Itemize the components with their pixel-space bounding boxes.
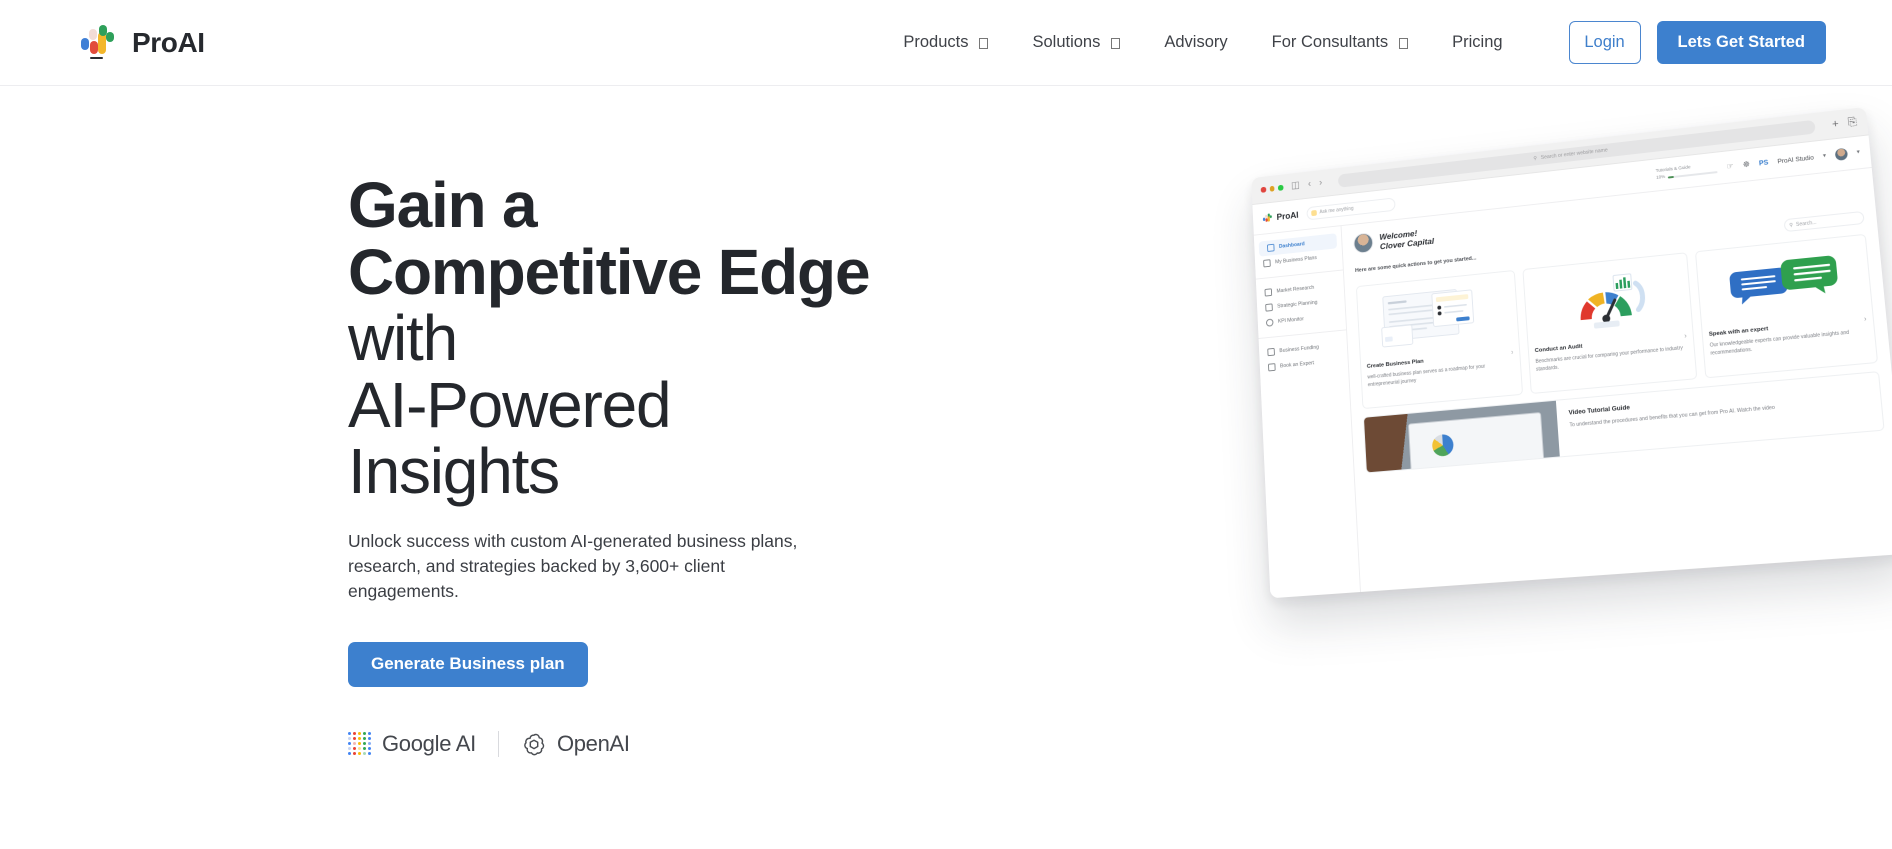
app-body: Dashboard My Business Plans Market Resea… <box>1254 168 1892 598</box>
partner-logos: Google AI OpenAI <box>348 731 988 757</box>
business-plan-illustration <box>1363 277 1513 357</box>
site-header: ProAI Products Solutions Advisory For Co… <box>0 0 1892 86</box>
chevron-right-icon[interactable]: › <box>1864 316 1867 323</box>
url-placeholder: Search or enter website name <box>1541 148 1608 161</box>
chevron-down-icon[interactable]: ▾ <box>1823 153 1827 159</box>
sidebar-item-label: Business Funding <box>1279 345 1319 355</box>
chevron-down-icon <box>1399 38 1408 49</box>
workspace-initials: PS <box>1759 159 1769 167</box>
login-button[interactable]: Login <box>1569 21 1641 64</box>
gauge-icon <box>1266 318 1274 326</box>
card-title: Conduct an Audit <box>1535 343 1583 353</box>
dashboard-icon <box>1267 244 1275 252</box>
chat-bubbles-illustration <box>1703 242 1866 325</box>
search-placeholder: Search... <box>1796 219 1817 227</box>
headline-line-4: AI-Powered <box>348 372 988 439</box>
search-icon: ⚲ <box>1533 156 1537 162</box>
app-content: Welcome! Clover Capital Here are some qu… <box>1342 168 1892 592</box>
header-actions: Login Lets Get Started <box>1569 21 1826 64</box>
quick-actions-text: Here are some quick actions to get you s… <box>1355 255 1477 273</box>
video-thumbnail <box>1364 401 1560 473</box>
search-input[interactable]: ⚲ Search... <box>1784 211 1865 232</box>
partner-label: OpenAI <box>557 731 630 757</box>
briefcase-icon <box>1263 259 1271 267</box>
chevron-right-icon[interactable]: › <box>1511 349 1514 356</box>
proai-logo-icon <box>1262 212 1273 225</box>
google-ai-icon <box>348 732 371 755</box>
hero-copy: Gain a Competitive Edge with AI-Powered … <box>348 172 988 757</box>
avatar[interactable] <box>1835 148 1848 161</box>
headline-line-1: Gain a <box>348 172 988 239</box>
nav-label: Advisory <box>1164 33 1227 52</box>
card-conduct-an-audit[interactable]: Conduct an Audit › Benchmarks are crucia… <box>1522 252 1697 394</box>
card-create-business-plan[interactable]: Create Business Plan › well-crafted busi… <box>1356 270 1523 409</box>
chrome-right-actions: + ⎘ <box>1832 116 1858 130</box>
proai-logo-icon <box>78 22 118 64</box>
nav-item-for-consultants[interactable]: For Consultants <box>1250 23 1430 63</box>
headline-line-5: Insights <box>348 438 988 505</box>
dashboard-mockup: ◫ ‹ › ⚲ Search or enter website name + ⎘ <box>1251 107 1892 598</box>
pie-chart-icon <box>1432 434 1454 457</box>
app-brand-name: ProAI <box>1276 210 1298 222</box>
people-icon[interactable]: ☸ <box>1742 161 1750 170</box>
headline-line-3: with <box>348 305 988 372</box>
calendar-icon <box>1268 363 1276 371</box>
chevron-down-icon[interactable]: ▾ <box>1856 149 1860 155</box>
chevron-right-icon[interactable]: › <box>1684 333 1687 340</box>
sidebar-item-label: Strategic Planning <box>1277 300 1317 310</box>
page-title: Gain a Competitive Edge with AI-Powered … <box>348 172 988 505</box>
sidebar-item-label: Dashboard <box>1279 241 1305 249</box>
app-brand[interactable]: ProAI <box>1262 209 1299 225</box>
window-controls[interactable] <box>1261 185 1283 193</box>
sidebar-item-label: KPI Monitor <box>1278 316 1304 324</box>
main-nav: Products Solutions Advisory For Consulta… <box>881 23 1524 63</box>
chevron-down-icon <box>1111 38 1120 49</box>
card-title: Create Business Plan <box>1367 358 1424 369</box>
nav-label: Pricing <box>1452 33 1502 52</box>
ask-placeholder: Ask me anything <box>1319 206 1353 215</box>
card-speak-with-an-expert[interactable]: Speak with an expert › Our knowledgeable… <box>1695 234 1878 379</box>
plus-icon[interactable]: + <box>1832 119 1840 131</box>
nav-item-solutions[interactable]: Solutions <box>1010 23 1142 63</box>
nav-item-advisory[interactable]: Advisory <box>1142 23 1249 63</box>
chevron-right-icon[interactable]: › <box>1319 178 1323 188</box>
nav-label: Products <box>903 33 968 52</box>
duplicate-icon[interactable]: ⎘ <box>1847 116 1857 128</box>
headline-line-2: Competitive Edge <box>348 239 988 306</box>
avatar <box>1353 232 1374 254</box>
nav-label: Solutions <box>1032 33 1100 52</box>
search-icon: ⚲ <box>1789 222 1793 228</box>
brand-logo[interactable]: ProAI <box>78 22 205 64</box>
tutorials-progress[interactable]: Tutorials & Guide 10% <box>1655 161 1718 181</box>
openai-icon <box>522 732 546 756</box>
audit-gauge-illustration <box>1530 260 1686 342</box>
brand-name: ProAI <box>132 27 205 59</box>
partner-google-ai: Google AI <box>348 731 498 757</box>
hero-product-screenshot: ◫ ‹ › ⚲ Search or enter website name + ⎘ <box>1245 141 1892 611</box>
funding-icon <box>1267 348 1275 356</box>
partner-openai: OpenAI <box>498 731 630 757</box>
sidebar-item-label: Market Research <box>1276 285 1314 295</box>
generate-business-plan-button[interactable]: Generate Business plan <box>348 642 588 687</box>
get-started-button[interactable]: Lets Get Started <box>1657 21 1826 64</box>
workspace-name[interactable]: ProAI Studio <box>1777 154 1814 165</box>
hero-subtitle: Unlock success with custom AI-generated … <box>348 529 818 605</box>
chart-icon <box>1265 288 1273 296</box>
planning-icon <box>1265 303 1273 311</box>
ask-anything-input[interactable]: Ask me anything <box>1306 197 1395 220</box>
hero-section: Gain a Competitive Edge with AI-Powered … <box>0 86 1892 849</box>
partner-label: Google AI <box>382 731 476 757</box>
panel-icon[interactable]: ◫ <box>1291 181 1300 191</box>
sidebar-item-label: Book an Expert <box>1280 360 1314 369</box>
progress-bar <box>1668 171 1718 179</box>
chevron-left-icon[interactable]: ‹ <box>1308 180 1312 190</box>
nav-item-products[interactable]: Products <box>881 23 1010 63</box>
hand-icon[interactable]: ☞ <box>1726 162 1734 171</box>
card-title: Speak with an expert <box>1709 326 1769 338</box>
nav-label: For Consultants <box>1272 33 1388 52</box>
chevron-down-icon <box>979 38 988 49</box>
nav-item-pricing[interactable]: Pricing <box>1430 23 1524 63</box>
tutorials-percent: 10% <box>1656 174 1666 182</box>
sparkle-icon <box>1311 210 1317 216</box>
sidebar-item-label: My Business Plans <box>1275 255 1317 265</box>
